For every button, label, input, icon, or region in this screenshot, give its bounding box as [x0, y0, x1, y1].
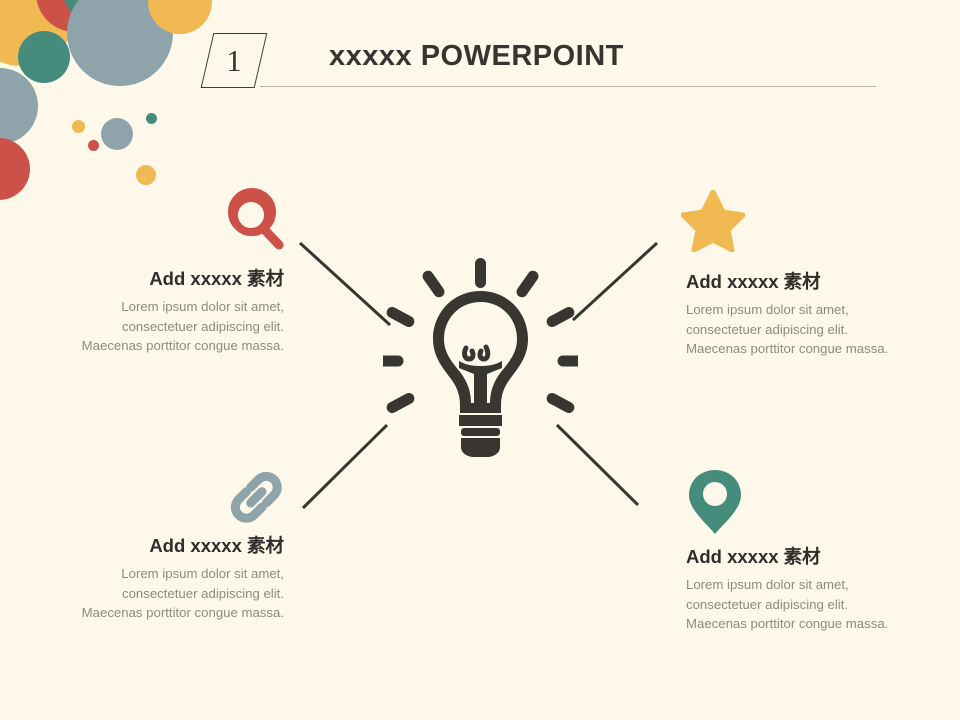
content-block-bottom-left: Add xxxxx 素材 Lorem ipsum dolor sit amet,…	[72, 532, 284, 623]
block-heading: Add xxxxx 素材	[686, 543, 898, 569]
connector-top-left	[300, 243, 390, 325]
block-heading: Add xxxxx 素材	[72, 532, 284, 558]
star-icon	[681, 190, 745, 257]
block-body: Lorem ipsum dolor sit amet, consectetuer…	[72, 564, 284, 623]
pin-icon	[687, 468, 743, 541]
block-body: Lorem ipsum dolor sit amet, consectetuer…	[686, 300, 898, 359]
content-block-top-right: Add xxxxx 素材 Lorem ipsum dolor sit amet,…	[686, 268, 898, 359]
content-block-top-left: Add xxxxx 素材 Lorem ipsum dolor sit amet,…	[72, 265, 284, 356]
link-icon	[227, 468, 287, 533]
connector-bottom-left	[303, 425, 387, 508]
block-heading: Add xxxxx 素材	[686, 268, 898, 294]
connector-top-right	[573, 243, 657, 320]
slide-canvas: 1 xxxxx POWERPOINT	[0, 0, 960, 720]
block-heading: Add xxxxx 素材	[72, 265, 284, 291]
lightbulb-icon	[383, 258, 578, 463]
block-body: Lorem ipsum dolor sit amet, consectetuer…	[686, 575, 898, 634]
search-icon	[226, 191, 288, 258]
content-block-bottom-right: Add xxxxx 素材 Lorem ipsum dolor sit amet,…	[686, 543, 898, 634]
block-body: Lorem ipsum dolor sit amet, consectetuer…	[72, 297, 284, 356]
